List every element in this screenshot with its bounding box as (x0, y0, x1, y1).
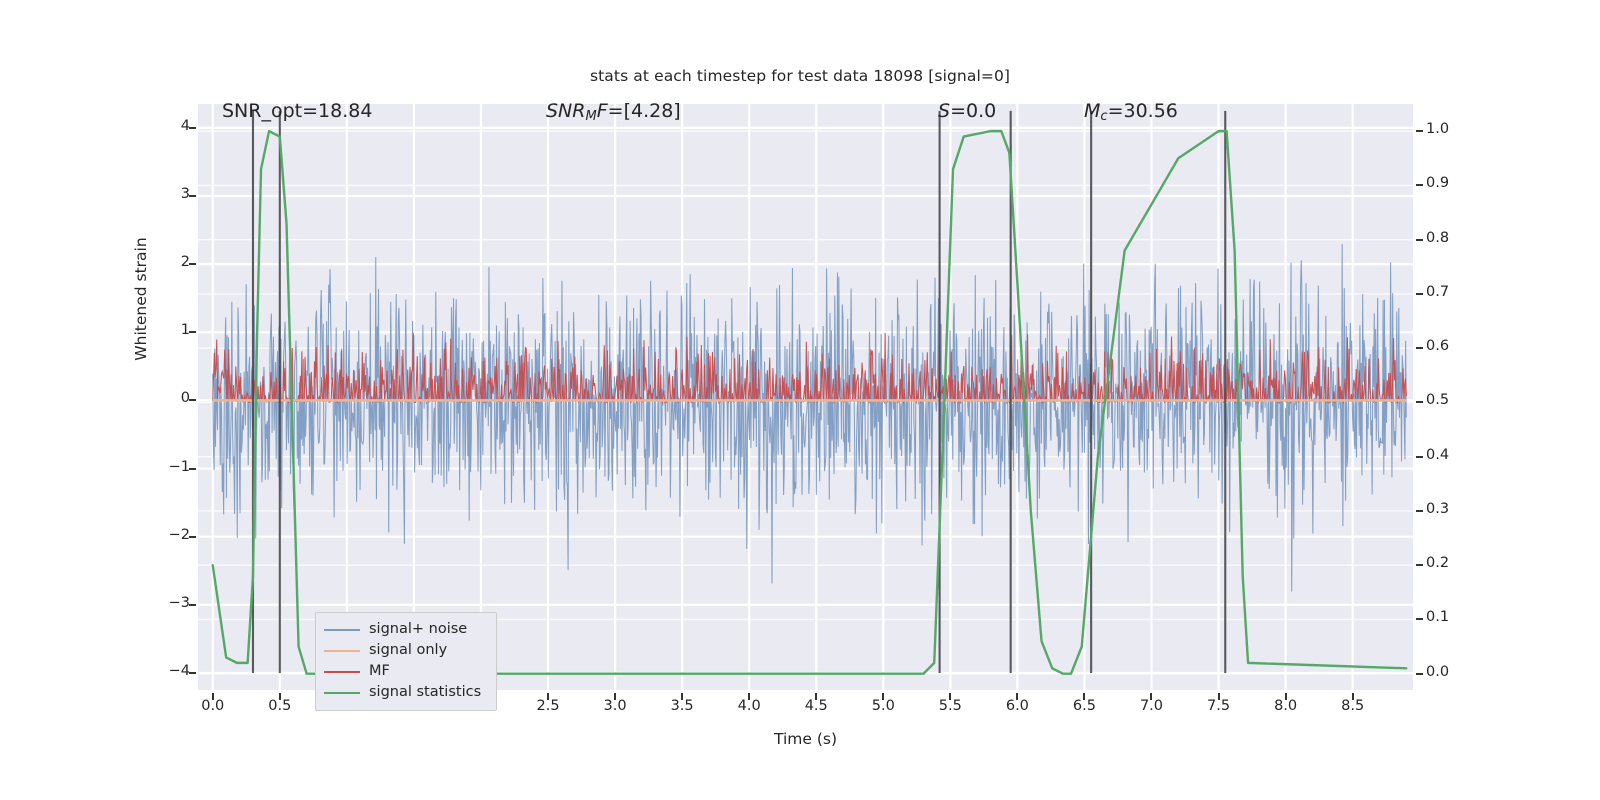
legend-item[interactable]: signal+ noise (324, 619, 488, 640)
y-tick-right-mark (1416, 456, 1423, 458)
x-tick-mark (815, 693, 817, 700)
y-axis-left-label: Whitened strain (132, 149, 150, 449)
annotation-chirp-mass: Mc=30.56 (1084, 100, 1178, 124)
y-tick-right-mark (1416, 564, 1423, 566)
x-tick-mark (1150, 693, 1152, 700)
x-tick-label: 3.0 (604, 698, 627, 714)
x-tick-mark (1218, 693, 1220, 700)
y-tick-left-mark (189, 468, 196, 470)
annotation-signal: S=0.0 (938, 100, 996, 122)
x-tick-mark (748, 693, 750, 700)
x-tick-label: 6.5 (1073, 698, 1096, 714)
y-tick-right-label: 0.7 (1426, 284, 1449, 300)
x-tick-label: 4.0 (738, 698, 761, 714)
x-tick-mark (547, 693, 549, 700)
y-tick-right-mark (1416, 510, 1423, 512)
y-tick-right-mark (1416, 130, 1423, 132)
x-tick-label: 2.5 (536, 698, 559, 714)
legend-item[interactable]: signal only (324, 640, 488, 661)
x-tick-mark (1285, 693, 1287, 700)
y-tick-right-label: 0.9 (1426, 175, 1449, 191)
y-tick-left-label: −1 (169, 459, 190, 475)
legend-item[interactable]: MF (324, 661, 488, 682)
x-tick-mark (681, 693, 683, 700)
annotation-snr-opt: SNR_opt=18.84 (222, 100, 372, 122)
legend-swatch-line (324, 692, 360, 694)
y-tick-right-label: 1.0 (1426, 121, 1449, 137)
y-tick-right-label: 0.8 (1426, 230, 1449, 246)
y-tick-left-label: −3 (169, 595, 190, 611)
x-axis-label: Time (s) (198, 730, 1413, 748)
y-tick-left-label: 4 (181, 118, 190, 134)
y-tick-right-mark (1416, 347, 1423, 349)
legend-label: signal+ noise (369, 622, 467, 637)
y-tick-left-mark (189, 195, 196, 197)
y-tick-left-label: 1 (181, 322, 190, 338)
y-tick-right-mark (1416, 673, 1423, 675)
x-tick-label: 7.5 (1207, 698, 1230, 714)
y-tick-right-mark (1416, 293, 1423, 295)
y-tick-right-label: 0.4 (1426, 447, 1449, 463)
y-tick-right-mark (1416, 239, 1423, 241)
legend-swatch-line (324, 671, 360, 673)
y-tick-left-label: 2 (181, 254, 190, 270)
y-tick-right-label: 0.0 (1426, 664, 1449, 680)
y-tick-right-label: 0.6 (1426, 338, 1449, 354)
chart-title: stats at each timestep for test data 180… (0, 67, 1600, 85)
x-tick-mark (212, 693, 214, 700)
legend[interactable]: signal+ noisesignal onlyMFsignal statist… (315, 612, 497, 711)
y-tick-right-mark (1416, 184, 1423, 186)
y-tick-left-mark (189, 604, 196, 606)
x-tick-mark (1016, 693, 1018, 700)
y-tick-left-mark (189, 263, 196, 265)
y-tick-right-label: 0.1 (1426, 609, 1449, 625)
x-tick-label: 4.5 (805, 698, 828, 714)
y-tick-left-mark (189, 672, 196, 674)
x-tick-mark (882, 693, 884, 700)
y-tick-left-label: −2 (169, 527, 190, 543)
y-tick-left-label: 3 (181, 186, 190, 202)
x-tick-mark (614, 693, 616, 700)
x-tick-mark (949, 693, 951, 700)
legend-label: signal only (369, 643, 447, 658)
legend-swatch-line (324, 629, 360, 631)
x-tick-label: 5.5 (939, 698, 962, 714)
x-tick-mark (279, 693, 281, 700)
series-signal-noise (213, 244, 1407, 591)
legend-item[interactable]: signal statistics (324, 682, 488, 703)
y-tick-right-label: 0.2 (1426, 555, 1449, 571)
x-tick-mark (1083, 693, 1085, 700)
y-tick-left-label: −4 (169, 663, 190, 679)
y-tick-right-mark (1416, 401, 1423, 403)
x-tick-label: 8.0 (1274, 698, 1297, 714)
x-tick-label: 0.5 (268, 698, 291, 714)
x-tick-label: 7.0 (1140, 698, 1163, 714)
signal-noise-trace (213, 244, 1407, 591)
y-tick-left-mark (189, 399, 196, 401)
plot-area[interactable] (198, 104, 1413, 690)
legend-label: signal statistics (369, 685, 481, 700)
y-tick-left-mark (189, 331, 196, 333)
plot-canvas (198, 104, 1413, 690)
legend-swatch-line (324, 650, 360, 652)
y-tick-left-label: 0 (181, 390, 190, 406)
legend-label: MF (369, 664, 390, 679)
figure: stats at each timestep for test data 180… (0, 0, 1600, 800)
y-tick-left-mark (189, 127, 196, 129)
x-tick-mark (1352, 693, 1354, 700)
x-tick-label: 0.0 (201, 698, 224, 714)
y-tick-right-label: 0.5 (1426, 392, 1449, 408)
x-tick-label: 5.0 (872, 698, 895, 714)
y-tick-right-mark (1416, 618, 1423, 620)
x-tick-label: 6.0 (1006, 698, 1029, 714)
x-tick-label: 3.5 (671, 698, 694, 714)
x-tick-label: 8.5 (1341, 698, 1364, 714)
y-tick-left-mark (189, 536, 196, 538)
y-tick-right-label: 0.3 (1426, 501, 1449, 517)
annotation-snr-mf: SNRMF=[4.28] (546, 100, 681, 124)
